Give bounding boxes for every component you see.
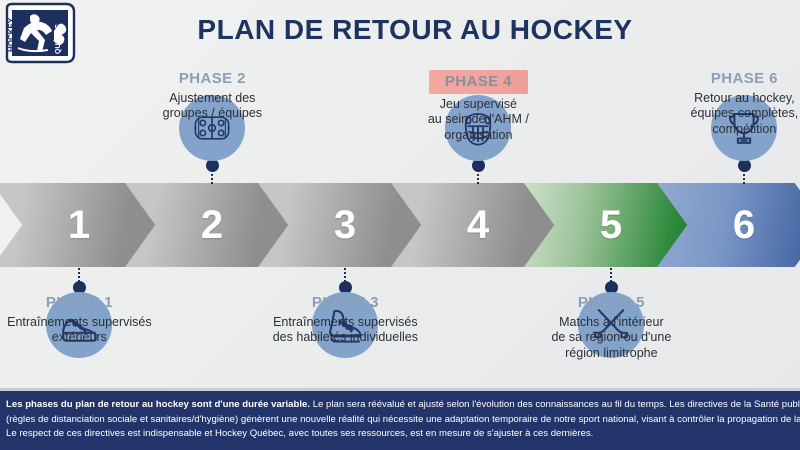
phase-title-3: PHASE 3: [312, 294, 379, 311]
phase-description-4: Jeu superviséau sein de l'AHM /organisat…: [378, 97, 578, 143]
phase-label-group-3: PHASE 3Entraînements supervisésdes habil…: [245, 294, 445, 346]
phase-label-group-2: PHASE 2Ajustement desgroupes / équipes: [112, 70, 312, 122]
phase-description-5: Matchs à l'intérieurde sa région ou d'un…: [511, 315, 711, 361]
phase-title-2: PHASE 2: [179, 70, 246, 87]
phase-label-group-4: PHASE 4Jeu superviséau sein de l'AHM /or…: [378, 70, 578, 143]
phase-description-6: Retour au hockey,équipes complètes,compé…: [644, 91, 800, 137]
phase-label-group-6: PHASE 6Retour au hockey,équipes complète…: [644, 70, 800, 137]
infographic-canvas: HOCKEY QUÉBEC PLAN DE RETOUR AU HOCKEY 1…: [0, 0, 800, 450]
phase-title-5: PHASE 5: [578, 294, 645, 311]
phase-label-group-5: PHASE 5Matchs à l'intérieurde sa région …: [511, 294, 711, 361]
phase-description-1: Entraînements supervisésextérieurs: [0, 315, 179, 346]
phase-description-3: Entraînements supervisésdes habiletés in…: [245, 315, 445, 346]
phase-title-6: PHASE 6: [711, 70, 778, 87]
phase-description-2: Ajustement desgroupes / équipes: [112, 91, 312, 122]
phase-label-group-1: PHASE 1Entraînements supervisésextérieur…: [0, 294, 179, 346]
phase-title-4: PHASE 4: [429, 70, 528, 94]
phase-title-1: PHASE 1: [46, 294, 113, 311]
